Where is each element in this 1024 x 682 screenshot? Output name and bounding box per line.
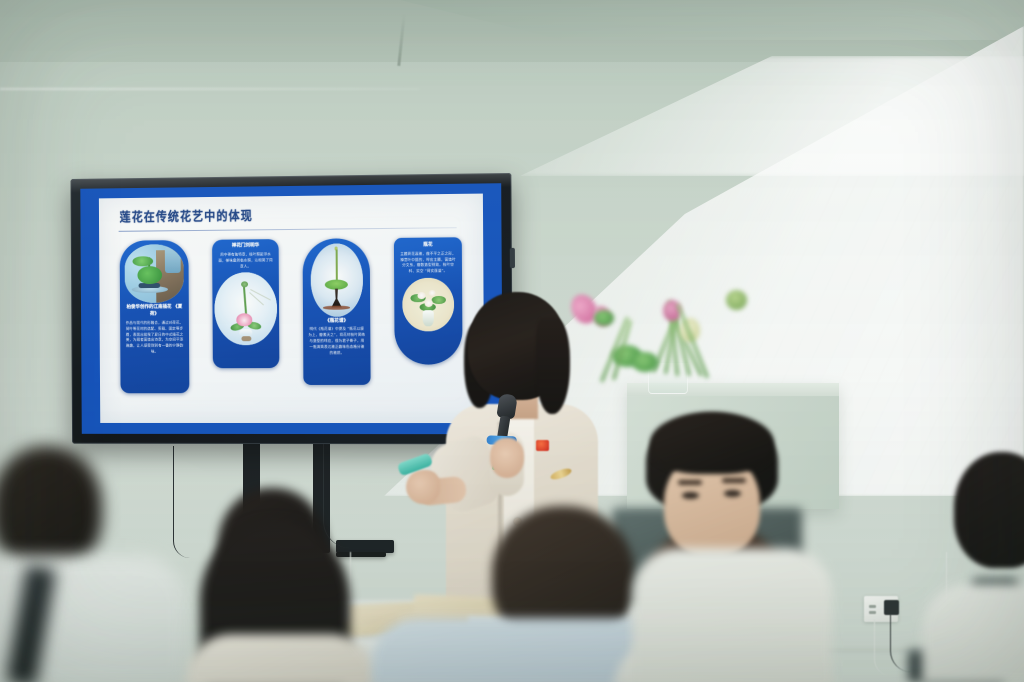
- audience-long-hair-shoulders: [186, 634, 376, 682]
- slide-panel-3-body: 明代《瓶花谱》中提及 “瓶花以瘦为上，瓣素天之”，将花材枝叶简练与造型的呼应，视…: [303, 325, 370, 357]
- audience-right-boy-eye-right: [724, 490, 741, 497]
- presentation-slide: 莲花在传统花艺中的体现 柏俊华创作的江南插花 《夏荷》 作品与现代的形融合，通过…: [98, 193, 484, 422]
- slide-panel-3: 《瓶花谱》 明代《瓶花谱》中提及 “瓶花以瘦为上，瓣素天之”，将花材枝叶简练与造…: [303, 238, 371, 385]
- lotus-pad-green-3: [632, 352, 658, 372]
- lapel-badge: [536, 440, 549, 451]
- slide-panel-row: 柏俊华创作的江南插花 《夏荷》 作品与现代的形融合，通过对荷花、荷叶等花材的选配…: [119, 237, 462, 405]
- lotus-leaf-in-black-vase-photo: [310, 243, 363, 316]
- presenter-hair-right: [536, 318, 570, 414]
- slide-panel-4-body: 主题荷花高雅，做不平之正之形，禅意叶中挺的，呼应主题，营造叶分文系，瓣数造型别致…: [394, 249, 462, 276]
- wall-highlight-line: [0, 88, 420, 90]
- slide-title-rule: [119, 227, 457, 232]
- audience-right-boy-brow-left: [678, 480, 702, 485]
- outlet-plug: [884, 600, 899, 615]
- slide-panel-1-body: 作品与现代的形融合，通过对荷花、荷叶等花材的选配、剪裁、固定等步骤，表现出摇曳了…: [120, 318, 189, 356]
- presenter-right-hand: [490, 438, 524, 478]
- audience-left-back-hair: [0, 446, 102, 570]
- slide-panel-1-title: 柏俊华创作的江南插花 《夏荷》: [120, 305, 189, 319]
- presenter-left-hand: [406, 470, 440, 504]
- slide-panel-2-body: 用中得有独特意，枝叶照影浮水面，禅味盎然临水照，沁彻简了同意人。: [212, 250, 279, 270]
- lotus-bonsai-photo: [124, 244, 184, 303]
- slide-panel-2: 禅花门刘明华 用中得有独特意，枝叶照影浮水面，禅味盎然临水照，沁彻简了同意人。: [212, 239, 279, 368]
- audience-right-boy-eye-left: [682, 492, 699, 499]
- outlet-slot-2: [869, 611, 876, 614]
- slide-title: 莲花在传统花艺中的体现: [120, 207, 253, 226]
- tv-power-cable-right: [323, 444, 350, 548]
- pink-lotus-in-glass-vase-photo: [214, 272, 277, 346]
- audience-far-right-shoulders: [922, 584, 1024, 682]
- audience-right-boy-brow-right: [722, 478, 746, 483]
- audience-right-boy-shoulders: [632, 548, 832, 682]
- outlet-slot-1: [869, 605, 876, 608]
- tv-side-button[interactable]: [510, 248, 515, 268]
- classroom-photo-scene: 莲花在传统花艺中的体现 柏俊华创作的江南插花 《夏荷》 作品与现代的形融合，通过…: [0, 0, 1024, 682]
- audience-right-boy-hair-front: [650, 412, 774, 474]
- tv-power-cable-left: [173, 446, 190, 558]
- slide-panel-1: 柏俊华创作的江南插花 《夏荷》 作品与现代的形融合，通过对荷花、荷叶等花材的选配…: [119, 240, 189, 393]
- desk-paper-2: [414, 594, 505, 617]
- lotus-seedpod-green: [726, 290, 747, 310]
- outlet-cable-white: [874, 620, 891, 676]
